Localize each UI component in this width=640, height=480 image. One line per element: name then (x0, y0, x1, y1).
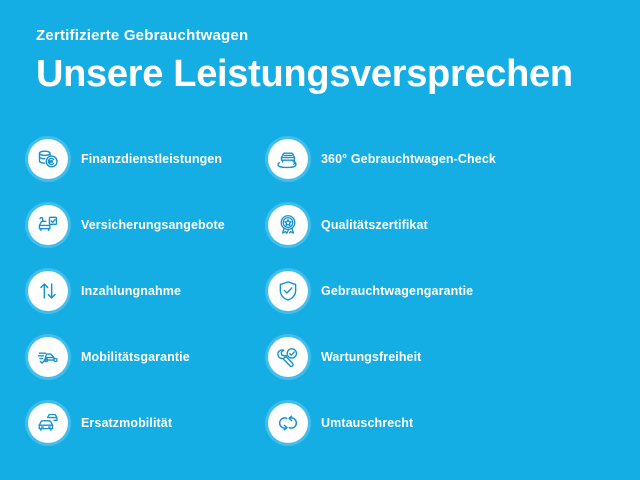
page-title: Unsere Leistungsversprechen (36, 52, 620, 96)
shield-check-icon (268, 271, 308, 311)
benefit-item-gebrauchtwagengarantie: Gebrauchtwagengarantie (268, 258, 504, 324)
benefit-label: 360° Gebrauchtwagen-Check (321, 151, 496, 167)
up-down-arrows-icon (28, 271, 68, 311)
header: Zertifizierte Gebrauchtwagen Unsere Leis… (36, 26, 620, 96)
benefit-item-qualitaetszertifikat: Qualitätszertifikat (268, 192, 504, 258)
benefit-label: Inzahlungnahme (81, 283, 181, 299)
benefits-grid: Finanzdienstleistungen 360° Gebrauchtwag… (28, 126, 612, 456)
benefit-item-ersatzmobilitaet: Ersatzmobilität (28, 390, 264, 456)
benefit-item-finanzdienstleistungen: Finanzdienstleistungen (28, 126, 264, 192)
award-rosette-star-icon (268, 205, 308, 245)
benefit-label: Finanzdienstleistungen (81, 151, 222, 167)
coins-euro-icon (28, 139, 68, 179)
benefit-label: Ersatzmobilität (81, 415, 172, 431)
two-cars-icon (28, 403, 68, 443)
car-checkbox-icon (28, 205, 68, 245)
benefit-label: Gebrauchtwagengarantie (321, 283, 473, 299)
benefit-item-umtauschrecht: Umtauschrecht (268, 390, 504, 456)
benefit-label: Mobilitätsgarantie (81, 349, 190, 365)
benefit-label: Versicherungsangebote (81, 217, 225, 233)
benefit-item-inzahlungnahme: Inzahlungnahme (28, 258, 264, 324)
slide-root: Zertifizierte Gebrauchtwagen Unsere Leis… (0, 0, 640, 480)
benefit-label: Wartungsfreiheit (321, 349, 421, 365)
benefit-item-mobilitaetsgarantie: Mobilitätsgarantie (28, 324, 264, 390)
benefit-label: Umtauschrecht (321, 415, 413, 431)
eyebrow-text: Zertifizierte Gebrauchtwagen (36, 26, 620, 46)
wrench-check-icon (268, 337, 308, 377)
car-speed-check-icon (28, 337, 68, 377)
benefit-item-360-check: 360° Gebrauchtwagen-Check (268, 126, 504, 192)
benefit-item-versicherungsangebote: Versicherungsangebote (28, 192, 264, 258)
benefit-item-wartungsfreiheit: Wartungsfreiheit (268, 324, 504, 390)
car-360-rotate-icon (268, 139, 308, 179)
benefit-label: Qualitätszertifikat (321, 217, 428, 233)
exchange-arrows-icon (268, 403, 308, 443)
